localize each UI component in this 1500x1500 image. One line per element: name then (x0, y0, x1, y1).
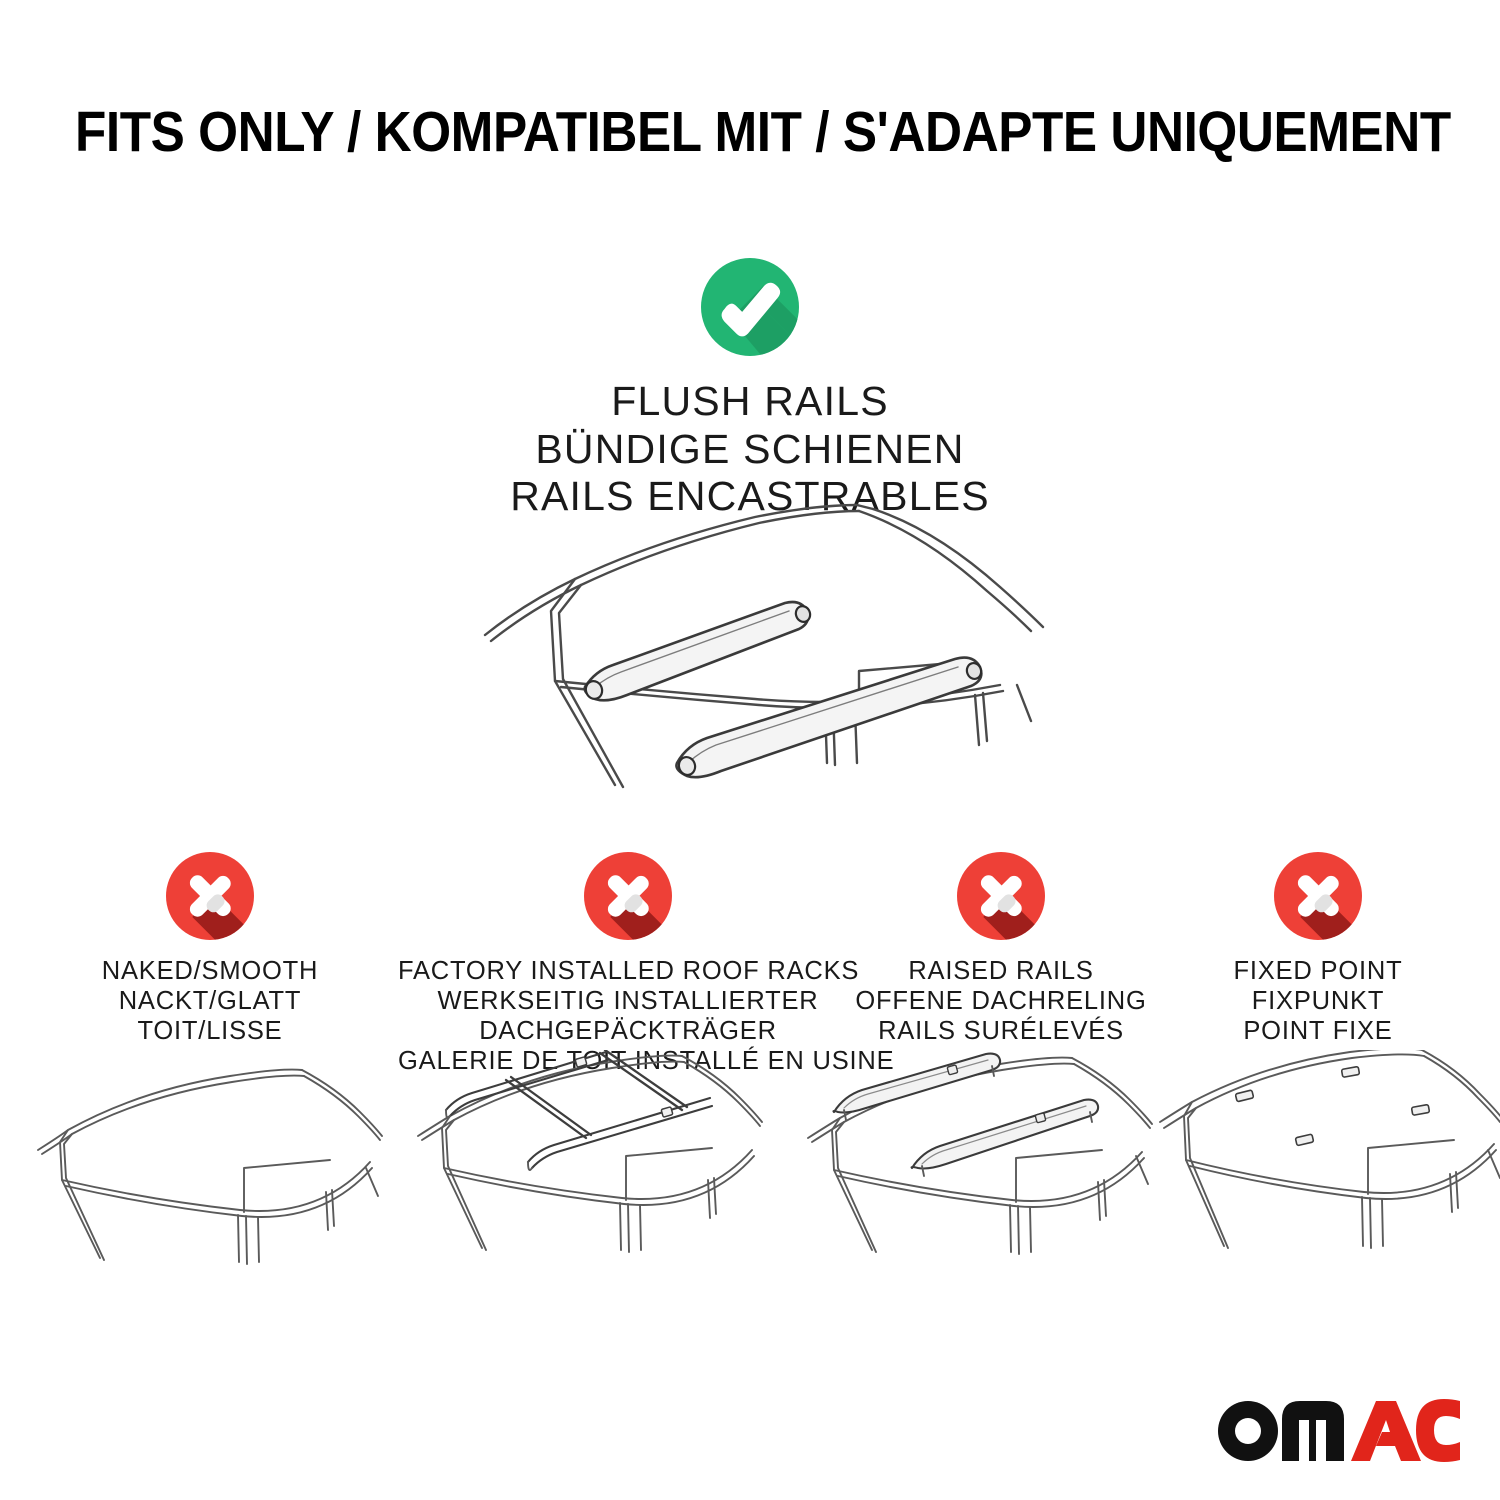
x-glyph (166, 852, 254, 940)
label-line-en: RAISED RAILS (846, 956, 1156, 986)
compatible-label-line-en: FLUSH RAILS (0, 378, 1500, 426)
x-circle-icon (166, 852, 254, 940)
compatible-label-line-de: BÜNDIGE SCHIENEN (0, 426, 1500, 474)
x-circle-icon (1274, 852, 1362, 940)
omac-logo (1212, 1392, 1462, 1464)
car-roof-fixed-point-illustration (1150, 1050, 1500, 1300)
incompatible-item-naked-smooth: NAKED/SMOOTH NACKT/GLATT TOIT/LISSE (60, 852, 360, 1046)
label-line-de: NACKT/GLATT (60, 986, 360, 1016)
label-line-en: FACTORY INSTALLED ROOF RACKS (398, 956, 858, 986)
roof-illustration-row (0, 1050, 1500, 1300)
omac-logo-letter-c (1416, 1399, 1460, 1462)
x-circle-icon (584, 852, 672, 940)
x-glyph (1274, 852, 1362, 940)
label-line-de-1: WERKSEITIG INSTALLIERTER (398, 986, 858, 1016)
label-line-en: NAKED/SMOOTH (60, 956, 360, 986)
omac-logo-letter-o (1218, 1401, 1278, 1461)
omac-logo-letter-m (1282, 1401, 1344, 1461)
incompatible-item-factory-roof-racks: FACTORY INSTALLED ROOF RACKS WERKSEITIG … (398, 852, 858, 1076)
x-glyph (584, 852, 672, 940)
x-glyph (957, 852, 1045, 940)
page-title: FITS ONLY / KOMPATIBEL MIT / S'ADAPTE UN… (75, 103, 1425, 163)
incompatible-item-raised-rails: RAISED RAILS OFFENE DACHRELING RAILS SUR… (846, 852, 1156, 1046)
label-line-de: FIXPUNKT (1178, 986, 1458, 1016)
incompatible-label: RAISED RAILS OFFENE DACHRELING RAILS SUR… (846, 956, 1156, 1046)
check-glyph (701, 258, 799, 356)
compatible-section: FLUSH RAILS BÜNDIGE SCHIENEN RAILS ENCAS… (0, 258, 1500, 521)
incompatible-label: FIXED POINT FIXPUNKT POINT FIXE (1178, 956, 1458, 1046)
incompatible-section: NAKED/SMOOTH NACKT/GLATT TOIT/LISSE FACT… (0, 852, 1500, 1082)
car-roof-raised-rails-illustration (800, 1050, 1170, 1300)
car-roof-flush-rails-illustration (455, 495, 1055, 795)
label-line-fr: POINT FIXE (1178, 1016, 1458, 1046)
incompatible-label: NAKED/SMOOTH NACKT/GLATT TOIT/LISSE (60, 956, 360, 1046)
car-roof-factory-racks-illustration (410, 1050, 780, 1300)
label-line-de: OFFENE DACHRELING (846, 986, 1156, 1016)
check-circle-icon (701, 258, 799, 356)
label-line-fr: RAILS SURÉLEVÉS (846, 1016, 1156, 1046)
car-roof-naked-illustration (30, 1050, 400, 1300)
omac-logo-letter-a (1351, 1401, 1421, 1461)
label-line-fr: TOIT/LISSE (60, 1016, 360, 1046)
label-line-en: FIXED POINT (1178, 956, 1458, 986)
x-circle-icon (957, 852, 1045, 940)
label-line-de-2: DACHGEPÄCKTRÄGER (398, 1016, 858, 1046)
incompatible-item-fixed-point: FIXED POINT FIXPUNKT POINT FIXE (1178, 852, 1458, 1046)
